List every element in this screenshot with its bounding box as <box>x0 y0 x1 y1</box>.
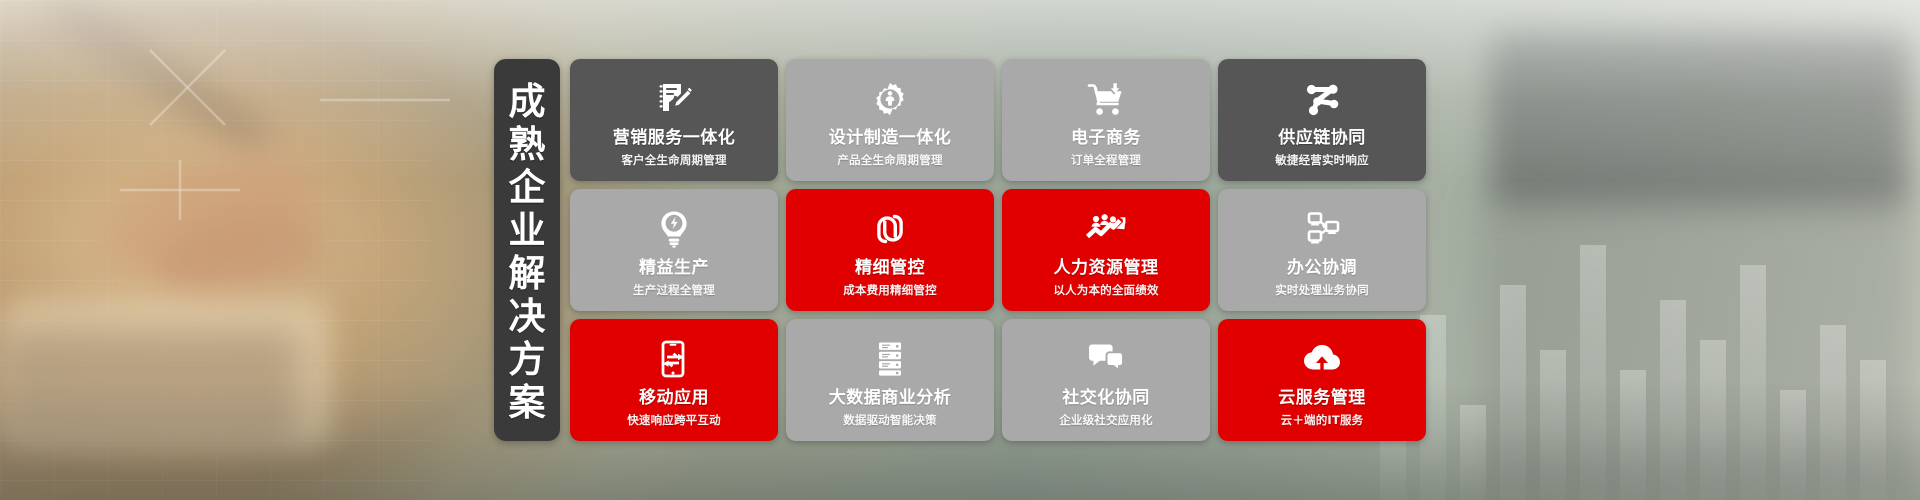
card-title: 电子商务 <box>1071 128 1141 148</box>
card-title: 人力资源管理 <box>1054 258 1159 278</box>
networked-computers-icon <box>1302 209 1342 249</box>
card-title: 精细管控 <box>855 258 925 278</box>
solution-card-grid: 营销服务一体化 客户全生命周期管理 设计制造一体化 产品全生命周期管 <box>570 59 1426 441</box>
card-title: 办公协调 <box>1287 258 1357 278</box>
solution-card-ecommerce[interactable]: 电子商务 订单全程管理 <box>1002 59 1210 181</box>
vertical-title-char: 熟 <box>509 123 546 166</box>
card-title: 大数据商业分析 <box>829 388 952 408</box>
solution-card-hr-management[interactable]: 人力资源管理 以人为本的全面绩效 <box>1002 189 1210 311</box>
shopping-cart-download-icon <box>1086 79 1126 119</box>
people-growth-arrow-icon <box>1086 209 1126 249</box>
solution-card-mobile-app[interactable]: 移动应用 快速响应跨平互动 <box>570 319 778 441</box>
card-subtitle: 订单全程管理 <box>1071 153 1141 167</box>
database-stack-icon <box>870 339 910 379</box>
vertical-title-char: 方 <box>509 338 546 381</box>
card-title: 营销服务一体化 <box>613 128 736 148</box>
cloud-upload-icon <box>1302 339 1342 379</box>
vertical-title-char: 企 <box>509 166 546 209</box>
card-subtitle: 敏捷经营实时响应 <box>1275 153 1369 167</box>
banner-stage: 成 熟 企 业 解 决 方 案 <box>0 0 1920 500</box>
card-subtitle: 实时处理业务协同 <box>1275 283 1369 297</box>
vertical-title-char: 成 <box>509 80 546 123</box>
solution-card-marketing-service[interactable]: 营销服务一体化 客户全生命周期管理 <box>570 59 778 181</box>
card-subtitle: 客户全生命周期管理 <box>621 153 726 167</box>
solution-card-design-manufacturing[interactable]: 设计制造一体化 产品全生命周期管理 <box>786 59 994 181</box>
paperclip-link-icon <box>870 209 910 249</box>
card-title: 设计制造一体化 <box>829 128 952 148</box>
solutions-board: 成 熟 企 业 解 决 方 案 <box>494 59 1426 441</box>
card-subtitle: 数据驱动智能决策 <box>843 413 937 427</box>
chat-bubbles-icon <box>1086 339 1126 379</box>
vertical-title-panel: 成 熟 企 业 解 决 方 案 <box>494 59 560 441</box>
mobile-phone-exchange-icon <box>654 339 694 379</box>
solution-card-big-data-analysis[interactable]: 大数据商业分析 数据驱动智能决策 <box>786 319 994 441</box>
card-subtitle: 云＋端的IT服务 <box>1281 413 1364 427</box>
vertical-title-char: 解 <box>509 252 546 295</box>
solution-card-lean-production[interactable]: 精益生产 生产过程全管理 <box>570 189 778 311</box>
card-title: 供应链协同 <box>1278 128 1366 148</box>
solution-card-office-coordination[interactable]: 办公协调 实时处理业务协同 <box>1218 189 1426 311</box>
solution-card-fine-control[interactable]: 精细管控 成本费用精细管控 <box>786 189 994 311</box>
gear-worker-icon <box>870 79 910 119</box>
vertical-title-char: 决 <box>509 295 546 338</box>
solution-card-supply-chain[interactable]: 供应链协同 敏捷经营实时响应 <box>1218 59 1426 181</box>
card-subtitle: 产品全生命周期管理 <box>837 153 942 167</box>
lightbulb-bolt-icon <box>654 209 694 249</box>
nodes-share-icon <box>1302 79 1342 119</box>
card-title: 精益生产 <box>639 258 709 278</box>
card-title: 社交化协同 <box>1062 388 1150 408</box>
notepad-pencil-icon <box>654 79 694 119</box>
solution-card-social-collaboration[interactable]: 社交化协同 企业级社交应用化 <box>1002 319 1210 441</box>
solution-card-cloud-service[interactable]: 云服务管理 云＋端的IT服务 <box>1218 319 1426 441</box>
card-subtitle: 以人为本的全面绩效 <box>1053 283 1158 297</box>
vertical-title-char: 业 <box>509 209 546 252</box>
vertical-title-char: 案 <box>509 381 546 424</box>
card-subtitle: 生产过程全管理 <box>633 283 715 297</box>
card-subtitle: 成本费用精细管控 <box>843 283 937 297</box>
card-title: 云服务管理 <box>1278 388 1366 408</box>
card-subtitle: 快速响应跨平互动 <box>627 413 721 427</box>
card-subtitle: 企业级社交应用化 <box>1059 413 1153 427</box>
card-title: 移动应用 <box>639 388 709 408</box>
